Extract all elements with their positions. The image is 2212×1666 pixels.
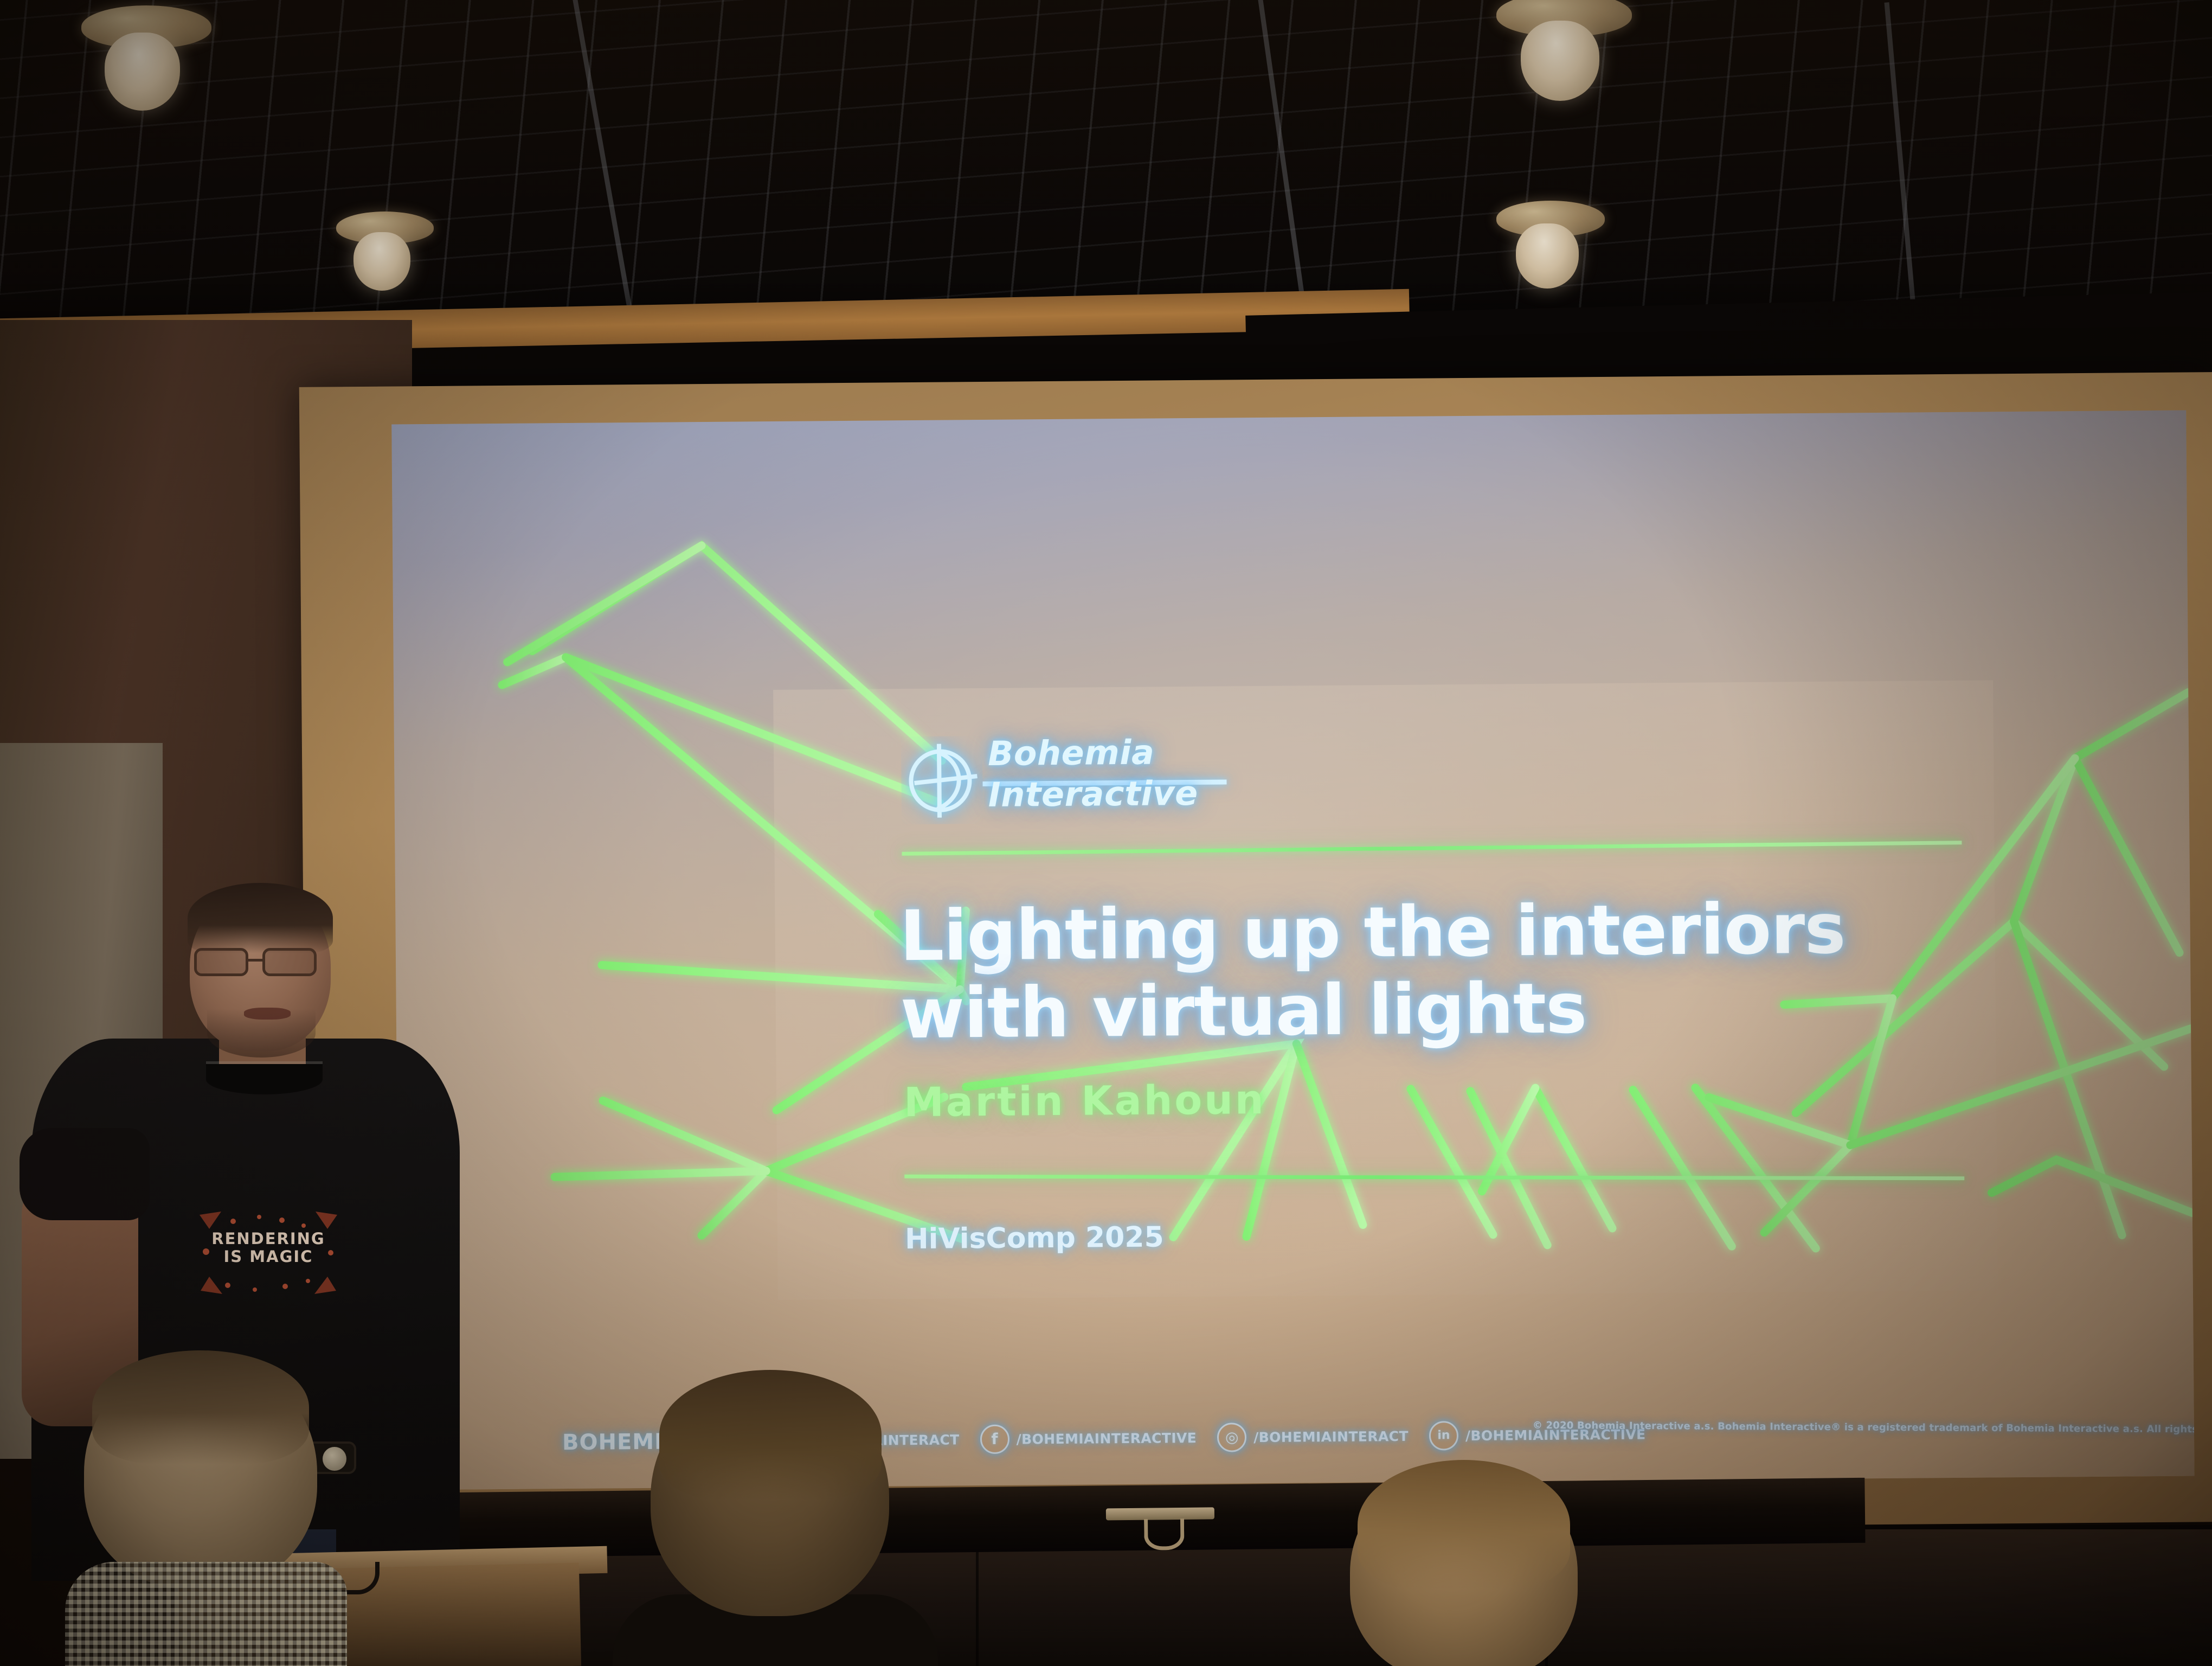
presenter-hair bbox=[188, 883, 333, 953]
lamp-bulb bbox=[353, 232, 410, 291]
tshirt-text-line2: IS MAGIC bbox=[224, 1247, 313, 1266]
pendant-lamp-2 bbox=[336, 212, 434, 285]
social-facebook: f /BOHEMIAINTERACTIVE bbox=[980, 1423, 1197, 1454]
pendant-lamp-3 bbox=[1496, 0, 1632, 93]
slide-title: Lighting up the interiors with virtual l… bbox=[899, 889, 1996, 1053]
lamp-bulb bbox=[1521, 21, 1599, 101]
facebook-handle: /BOHEMIAINTERACTIVE bbox=[1016, 1430, 1197, 1447]
linkedin-icon: in bbox=[1429, 1421, 1458, 1450]
audience-hair bbox=[1358, 1460, 1570, 1590]
tshirt-graphic: RENDERING IS MAGIC bbox=[195, 1209, 342, 1296]
facebook-icon: f bbox=[980, 1425, 1009, 1454]
projected-slide: Bohemia Interactive Lighting up the inte… bbox=[391, 411, 2194, 1490]
presenter-collar bbox=[206, 1064, 323, 1094]
social-instagram: ◎ /BOHEMIAINTERACT bbox=[1217, 1421, 1409, 1452]
audience-head-right bbox=[1339, 1464, 1599, 1666]
tshirt-text-line1: RENDERING bbox=[211, 1229, 325, 1248]
divider-rule-bottom bbox=[904, 1175, 1964, 1180]
bohemia-interactive-logo: Bohemia Interactive bbox=[901, 730, 1221, 830]
lamp-bulb bbox=[105, 33, 180, 111]
projector-screen-frame: Bohemia Interactive Lighting up the inte… bbox=[299, 372, 2212, 1537]
slide-event-label: HiVisComp 2025 bbox=[905, 1221, 1164, 1255]
logo-wordmark: Bohemia Interactive bbox=[988, 735, 1198, 812]
instagram-handle: /BOHEMIAINTERACT bbox=[1253, 1428, 1409, 1445]
instagram-icon: ◎ bbox=[1217, 1422, 1246, 1452]
presenter-mouth bbox=[244, 1008, 291, 1020]
presenter-left-sleeve bbox=[20, 1128, 150, 1220]
glasses-lens-left bbox=[194, 948, 248, 976]
audience-hair bbox=[92, 1350, 309, 1464]
logo-line-bohemia: Bohemia bbox=[988, 735, 1198, 771]
projector-screen-pull-handle[interactable] bbox=[1144, 1518, 1185, 1550]
conference-room-scene: Bohemia Interactive Lighting up the inte… bbox=[0, 0, 2212, 1666]
glasses-lens-right bbox=[262, 948, 317, 976]
tshirt-text: RENDERING IS MAGIC bbox=[195, 1230, 342, 1266]
lamp-bulb bbox=[1516, 223, 1579, 289]
audience-checkered-shirt bbox=[65, 1562, 347, 1666]
audience-head-left bbox=[65, 1356, 347, 1666]
divider-rule-top bbox=[902, 841, 1962, 855]
audience-head-center bbox=[634, 1377, 916, 1666]
bohemia-interactive-circle-slash-mark bbox=[901, 736, 983, 824]
pendant-lamp-4 bbox=[1496, 201, 1605, 282]
glasses-bridge bbox=[248, 959, 265, 962]
audience-hair bbox=[659, 1370, 882, 1500]
glasses-icon bbox=[191, 948, 331, 977]
slide-author: Martin Kahoun bbox=[904, 1077, 1266, 1126]
pendant-lamp-1 bbox=[81, 5, 211, 103]
logo-line-interactive: Interactive bbox=[988, 777, 1198, 812]
